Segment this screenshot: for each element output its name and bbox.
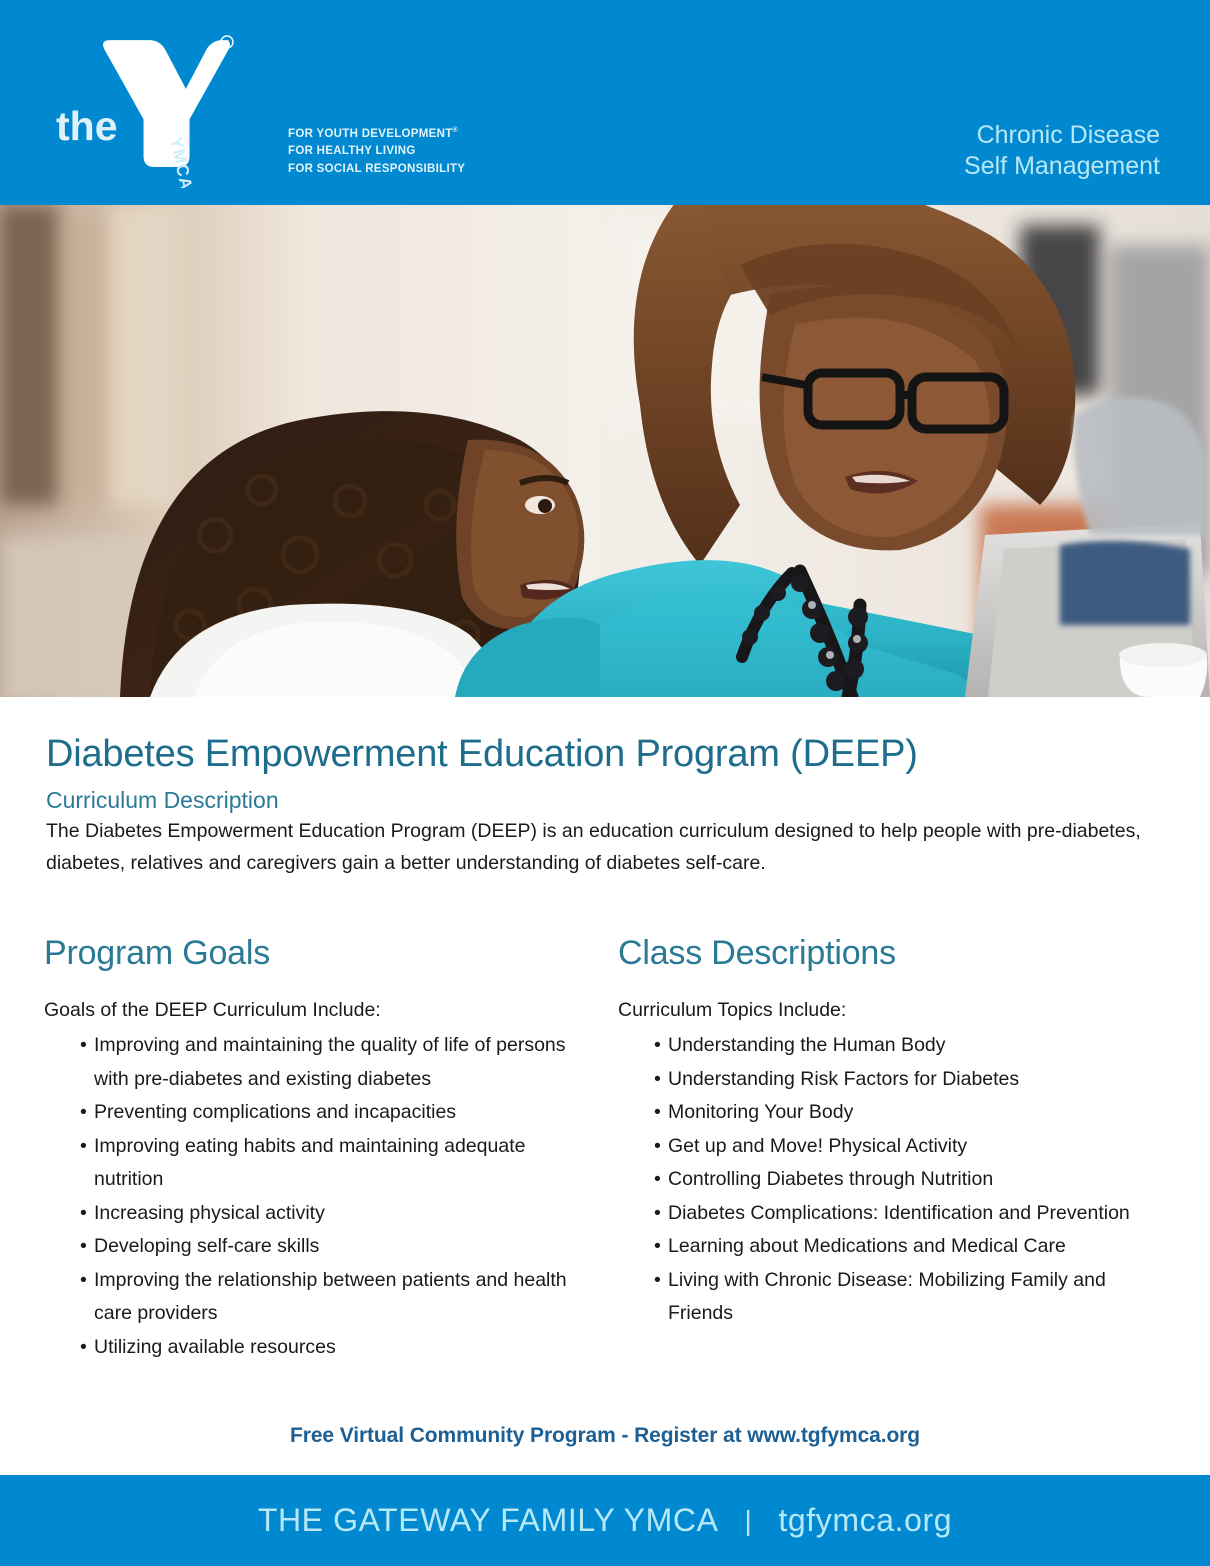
header-bar: R the YMCA FOR YOUTH DEVELOPMENT® FOR HE…	[0, 0, 1210, 205]
hero-photo-illustration	[0, 205, 1210, 697]
tagline-line-1: FOR YOUTH DEVELOPMENT®	[288, 122, 465, 143]
bullet-icon: •	[80, 1029, 87, 1063]
list-item: • Understanding the Human Body	[618, 1029, 1163, 1063]
bullet-icon: •	[80, 1264, 87, 1298]
program-goals-list: • Improving and maintaining the quality …	[44, 1029, 600, 1364]
hero-photo	[0, 205, 1210, 697]
list-item-label: Improving eating habits and maintaining …	[94, 1130, 600, 1197]
list-item-label: Increasing physical activity	[94, 1197, 600, 1231]
program-goals-lead: Goals of the DEEP Curriculum Include:	[44, 995, 600, 1025]
list-item: • Utilizing available resources	[44, 1331, 600, 1365]
class-descriptions-column: Class Descriptions Curriculum Topics Inc…	[618, 934, 1163, 1331]
list-item-label: Preventing complications and incapacitie…	[94, 1096, 600, 1130]
page-subtitle: Curriculum Description	[46, 787, 279, 814]
list-item: • Understanding Risk Factors for Diabete…	[618, 1063, 1163, 1097]
bullet-icon: •	[654, 1063, 661, 1097]
program-category-line-2: Self Management	[964, 151, 1160, 182]
bullet-icon: •	[80, 1331, 87, 1365]
bullet-icon: •	[654, 1029, 661, 1063]
list-item: • Improving eating habits and maintainin…	[44, 1130, 600, 1197]
list-item: • Monitoring Your Body	[618, 1096, 1163, 1130]
bullet-icon: •	[654, 1264, 661, 1298]
class-descriptions-heading: Class Descriptions	[618, 934, 1163, 973]
registered-mark-icon: ®	[453, 127, 458, 134]
list-item: • Improving and maintaining the quality …	[44, 1029, 600, 1096]
bullet-icon: •	[654, 1096, 661, 1130]
program-goals-heading: Program Goals	[44, 934, 600, 973]
list-item-label: Learning about Medications and Medical C…	[668, 1230, 1163, 1264]
list-item: • Increasing physical activity	[44, 1197, 600, 1231]
coffee-mug	[1119, 643, 1207, 697]
bullet-icon: •	[654, 1197, 661, 1231]
bullet-icon: •	[80, 1130, 87, 1164]
tagline-line-3: FOR SOCIAL RESPONSIBILITY	[288, 161, 465, 179]
list-item-label: Living with Chronic Disease: Mobilizing …	[668, 1264, 1163, 1331]
list-item-label: Diabetes Complications: Identification a…	[668, 1197, 1163, 1231]
ymca-tagline: FOR YOUTH DEVELOPMENT® FOR HEALTHY LIVIN…	[288, 122, 465, 178]
list-item: • Living with Chronic Disease: Mobilizin…	[618, 1264, 1163, 1331]
ymca-logo-icon: R the YMCA	[52, 18, 252, 188]
list-item-label: Monitoring Your Body	[668, 1096, 1163, 1130]
footer-org-name: THE GATEWAY FAMILY YMCA	[258, 1502, 719, 1539]
footer-content: THE GATEWAY FAMILY YMCA | tgfymca.org	[258, 1502, 952, 1539]
list-item-label: Understanding the Human Body	[668, 1029, 1163, 1063]
footer-bar: THE GATEWAY FAMILY YMCA | tgfymca.org	[0, 1475, 1210, 1566]
class-descriptions-lead: Curriculum Topics Include:	[618, 995, 1163, 1025]
list-item-label: Understanding Risk Factors for Diabetes	[668, 1063, 1163, 1097]
flyer-page: R the YMCA FOR YOUTH DEVELOPMENT® FOR HE…	[0, 0, 1210, 1566]
bullet-icon: •	[654, 1163, 661, 1197]
bullet-icon: •	[654, 1230, 661, 1264]
list-item: • Get up and Move! Physical Activity	[618, 1130, 1163, 1164]
program-category-label: Chronic Disease Self Management	[964, 120, 1160, 182]
footer-website-link[interactable]: tgfymca.org	[778, 1502, 952, 1539]
tagline-text-1: FOR YOUTH DEVELOPMENT	[288, 128, 453, 140]
list-item-label: Improving the relationship between patie…	[94, 1264, 600, 1331]
program-goals-column: Program Goals Goals of the DEEP Curricul…	[44, 934, 600, 1364]
bullet-icon: •	[654, 1130, 661, 1164]
list-item: • Controlling Diabetes through Nutrition	[618, 1163, 1163, 1197]
program-category-line-1: Chronic Disease	[964, 120, 1160, 151]
bullet-icon: •	[80, 1096, 87, 1130]
list-item: • Improving the relationship between pat…	[44, 1264, 600, 1331]
list-item: • Diabetes Complications: Identification…	[618, 1197, 1163, 1231]
bullet-icon: •	[80, 1197, 87, 1231]
list-item-label: Utilizing available resources	[94, 1331, 600, 1365]
footer-separator: |	[745, 1505, 753, 1537]
list-item-label: Improving and maintaining the quality of…	[94, 1029, 600, 1096]
svg-text:R: R	[224, 40, 229, 47]
intro-paragraph: The Diabetes Empowerment Education Progr…	[46, 815, 1161, 879]
svg-text:the: the	[56, 103, 118, 149]
bullet-icon: •	[80, 1230, 87, 1264]
list-item-label: Developing self-care skills	[94, 1230, 600, 1264]
list-item: • Developing self-care skills	[44, 1230, 600, 1264]
tagline-line-2: FOR HEALTHY LIVING	[288, 143, 465, 161]
ymca-logo: R the YMCA	[52, 18, 252, 188]
list-item: • Preventing complications and incapacit…	[44, 1096, 600, 1130]
list-item: • Learning about Medications and Medical…	[618, 1230, 1163, 1264]
page-title: Diabetes Empowerment Education Program (…	[46, 733, 918, 776]
list-item-label: Get up and Move! Physical Activity	[668, 1130, 1163, 1164]
registration-cta[interactable]: Free Virtual Community Program - Registe…	[0, 1424, 1210, 1448]
list-item-label: Controlling Diabetes through Nutrition	[668, 1163, 1163, 1197]
class-descriptions-list: • Understanding the Human Body • Underst…	[618, 1029, 1163, 1331]
